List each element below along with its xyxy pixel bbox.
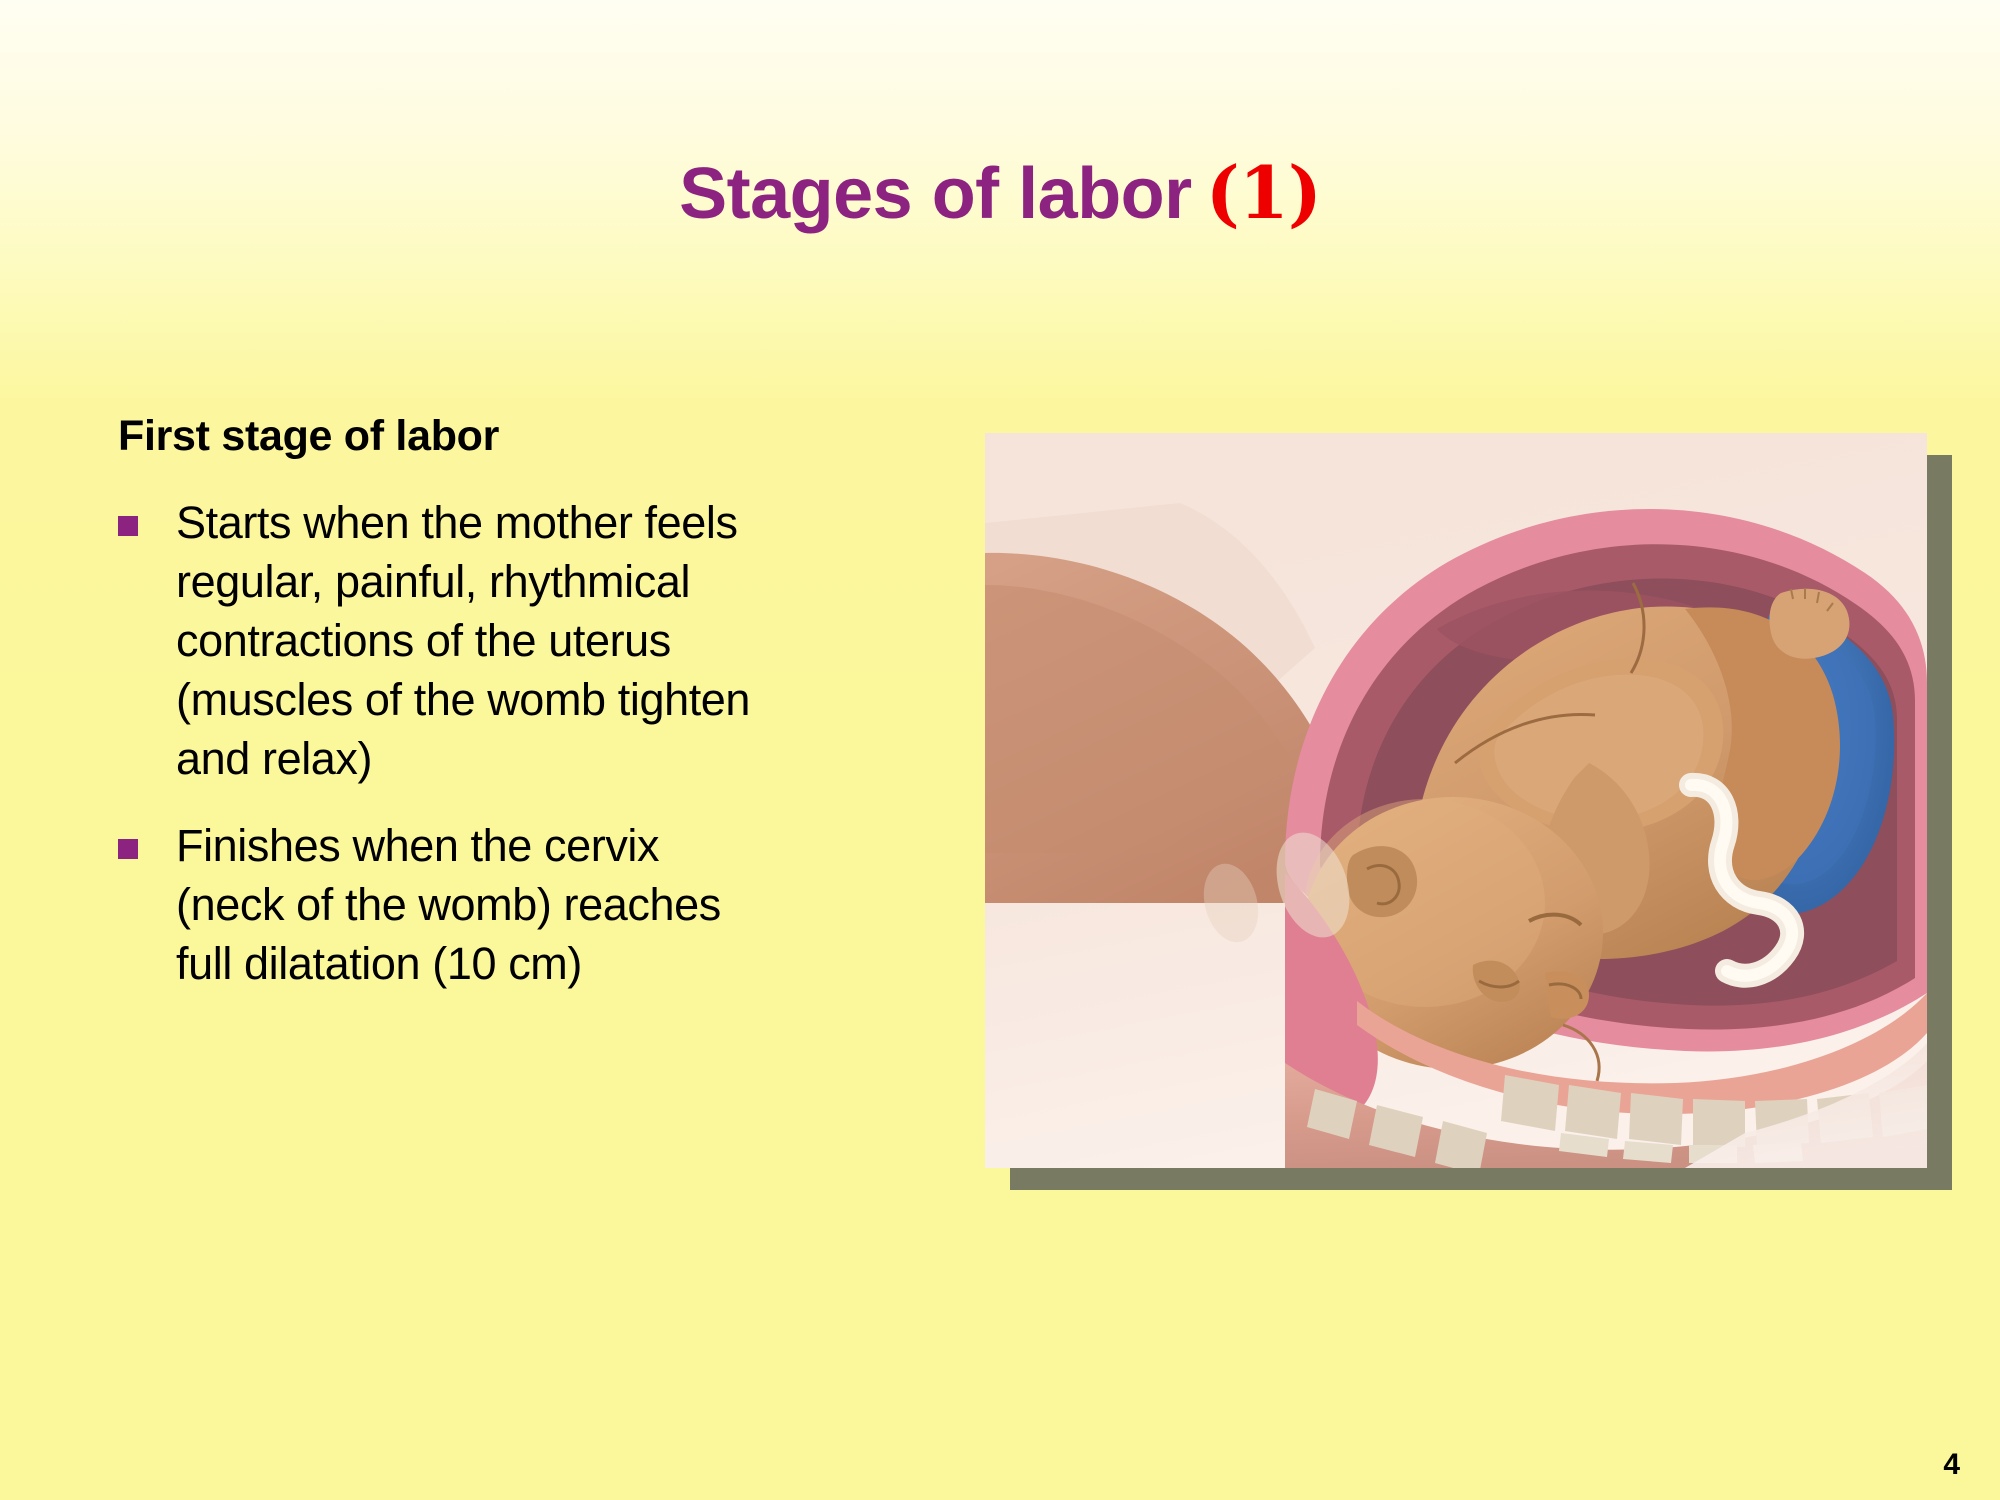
illustration-svg [985,433,1927,1168]
list-item-text: Finishes when the cervix (neck of the wo… [176,817,721,994]
list-item: Starts when the mother feels regular, pa… [118,494,908,789]
section-subheading: First stage of labor [118,415,908,458]
title-main-text: Stages of labor [679,154,1192,234]
page-number: 4 [1943,1448,1960,1482]
fetus-in-utero-illustration [985,433,1927,1168]
fetal-foot [1769,589,1849,659]
page-title: Stages of labor(1) [0,150,2000,235]
title-suffix-number: (1) [1206,150,1321,235]
content-column: First stage of labor Starts when the mot… [118,415,908,1022]
presentation-slide: Stages of labor(1) First stage of labor … [0,0,2000,1500]
bullet-square-icon [118,516,138,536]
fetal-ear [1347,846,1417,917]
list-item: Finishes when the cervix (neck of the wo… [118,817,908,994]
bullet-square-icon [118,839,138,859]
list-item-text: Starts when the mother feels regular, pa… [176,494,750,789]
